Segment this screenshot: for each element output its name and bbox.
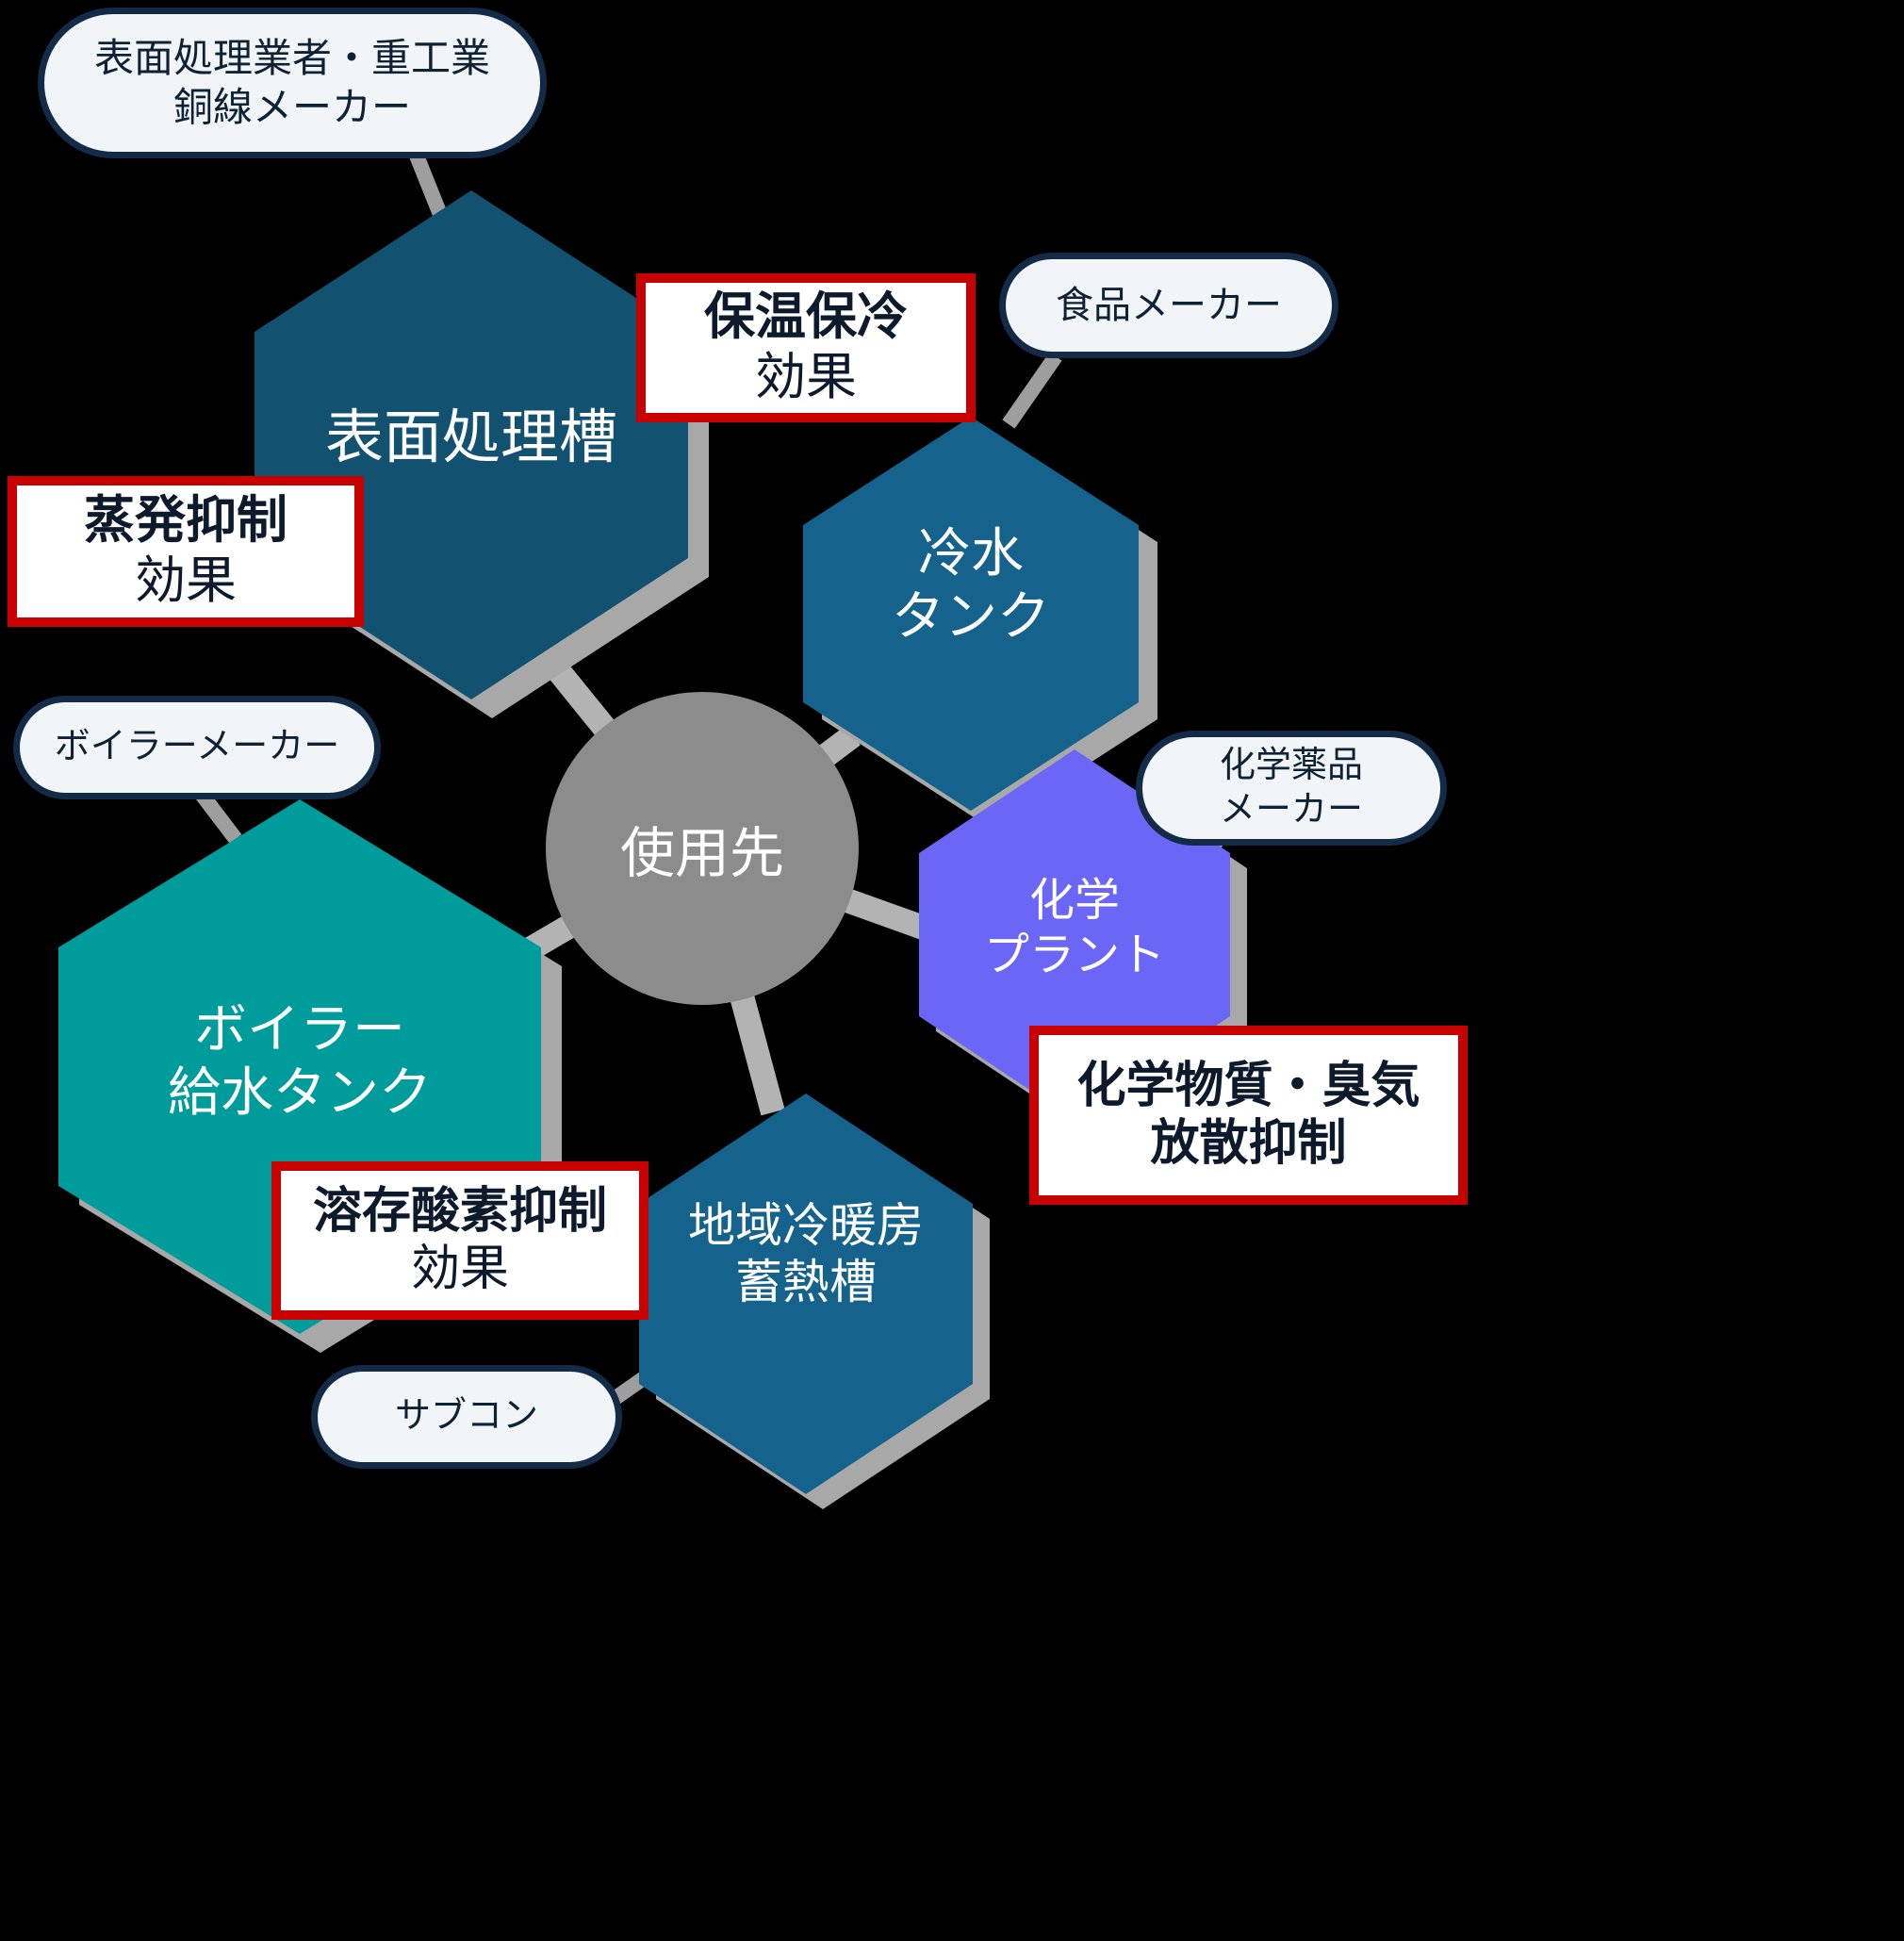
pill-label-line: ボイラーメーカー bbox=[55, 725, 339, 770]
hub-label-text: 使用先 bbox=[620, 809, 784, 888]
pill-food-maker[interactable]: 食品メーカー bbox=[999, 253, 1338, 358]
pill-surface-treatment-heavy-industry[interactable]: 表面処理業者・重工業 銅線メーカー bbox=[38, 8, 547, 158]
pill-chemical-maker[interactable]: 化学薬品 メーカー bbox=[1136, 731, 1447, 846]
connector-pill-surface-industry bbox=[415, 151, 443, 222]
pill-label-line: 食品メーカー bbox=[1056, 282, 1282, 329]
callout-line-secondary: 効果 bbox=[755, 348, 857, 408]
callout-line-primary: 保温保冷 bbox=[704, 288, 908, 348]
pill-label-line: メーカー bbox=[1220, 788, 1363, 833]
diagram-canvas: 表面処理槽 冷水 タンク 化学 プラント 地域冷暖房 蓄熱槽 ボイラー 給水タン… bbox=[0, 0, 1904, 1941]
pill-label-line: サブコン bbox=[395, 1394, 538, 1439]
hexagon-district-hvac-storage-tank[interactable] bbox=[639, 1094, 990, 1509]
callout-line-primary: 蒸発抑制 bbox=[84, 491, 287, 551]
pill-label-line: 表面処理業者・重工業 bbox=[94, 34, 490, 84]
callout-line-secondary: 効果 bbox=[411, 1241, 509, 1298]
pill-label-line: 銅線メーカー bbox=[173, 83, 411, 133]
callout-heat-cold-retention: 保温保冷 効果 bbox=[636, 273, 976, 422]
hexagon-surface-treatment-tank[interactable] bbox=[254, 190, 709, 718]
pill-label-line: 化学薬品 bbox=[1220, 744, 1363, 789]
hub-label: 使用先 bbox=[546, 806, 859, 891]
connector-pill-food-maker bbox=[1009, 356, 1056, 424]
callout-line-secondary: 放散抑制 bbox=[1150, 1115, 1346, 1173]
hexagon-cold-water-tank[interactable] bbox=[803, 417, 1157, 828]
pill-subcontractor[interactable]: サブコン bbox=[311, 1365, 622, 1469]
callout-chemical-odor-suppression: 化学物質・臭気 放散抑制 bbox=[1029, 1026, 1468, 1205]
callout-line-primary: 化学物質・臭気 bbox=[1076, 1058, 1420, 1115]
pill-boiler-maker[interactable]: ボイラーメーカー bbox=[13, 696, 381, 799]
callout-evaporation-suppression: 蒸発抑制 効果 bbox=[8, 476, 364, 627]
callout-line-secondary: 効果 bbox=[135, 551, 237, 612]
callout-line-primary: 溶存酸素抑制 bbox=[313, 1183, 607, 1241]
callout-dissolved-oxygen-suppression: 溶存酸素抑制 効果 bbox=[271, 1161, 648, 1320]
